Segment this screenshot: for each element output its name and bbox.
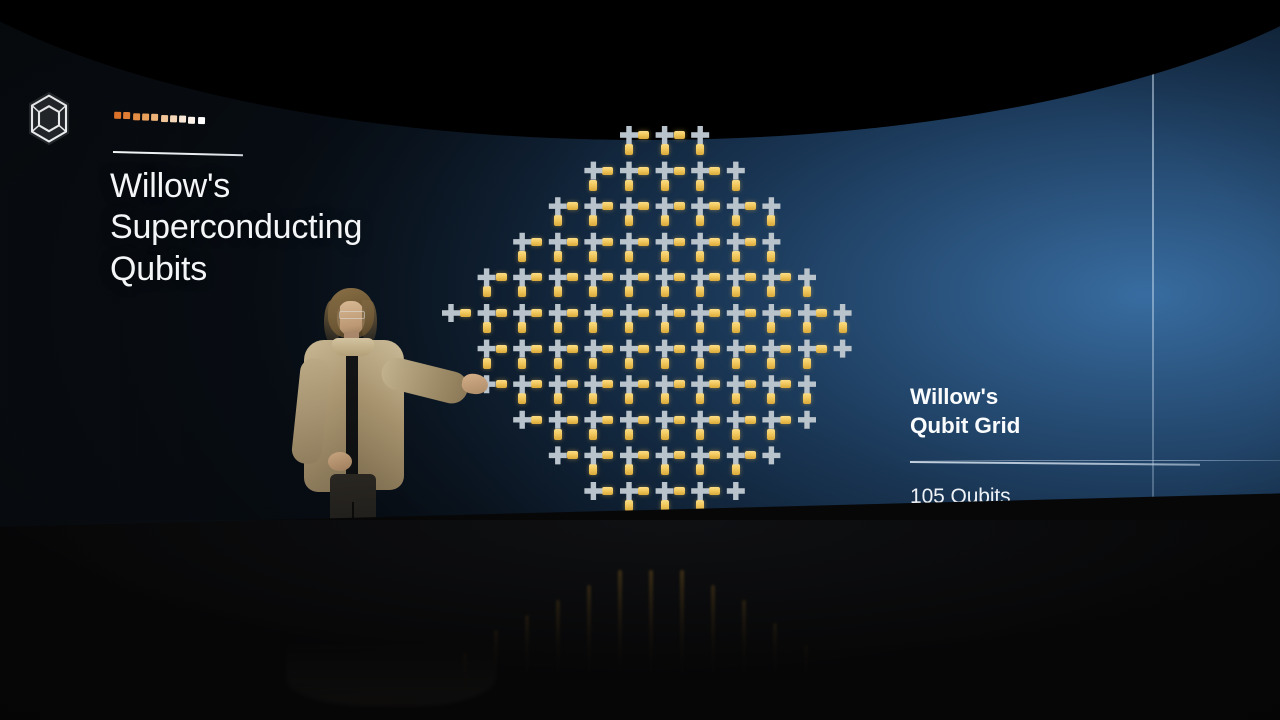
qubit-node [584, 340, 602, 358]
qubit-coupler [696, 215, 704, 226]
qubit-coupler [780, 309, 791, 317]
headline-line-1: Willow's [110, 166, 530, 207]
qubit-coupler [589, 464, 597, 475]
qubit-coupler [554, 215, 562, 226]
qubit-coupler [767, 286, 775, 297]
qubit-coupler [696, 286, 704, 297]
qubit-coupler [531, 309, 542, 317]
qubit-node [549, 446, 567, 464]
qubit-coupler [709, 380, 720, 388]
qubit-coupler [696, 251, 704, 262]
qubit-node [549, 375, 567, 393]
qubit-node [549, 233, 567, 251]
qubit-coupler [625, 358, 633, 369]
qubit-node [691, 126, 709, 144]
qubit-node [584, 268, 602, 286]
reflection-streak [587, 585, 591, 698]
qubit-coupler [567, 238, 578, 246]
qubit-node [513, 340, 531, 358]
qubit-coupler [732, 215, 740, 226]
qubit-coupler [803, 393, 811, 404]
qubit-coupler [589, 358, 597, 369]
qubit-node [691, 375, 709, 393]
qubit-coupler [661, 358, 669, 369]
progress-dot [151, 114, 158, 121]
progress-dot [170, 115, 177, 122]
qubit-node [762, 197, 780, 215]
qubit-node [727, 482, 745, 500]
qubit-node [691, 482, 709, 500]
qubit-coupler [638, 345, 649, 353]
qubit-coupler [638, 131, 649, 139]
qubit-coupler [709, 238, 720, 246]
qubit-coupler [661, 144, 669, 155]
qubit-coupler [567, 380, 578, 388]
qubit-coupler [674, 309, 685, 317]
qubit-node [620, 162, 638, 180]
qubit-coupler [602, 451, 613, 459]
qubit-coupler [638, 167, 649, 175]
qubit-node [549, 340, 567, 358]
qubit-node [584, 233, 602, 251]
qubit-coupler [803, 358, 811, 369]
caption-title-line-1: Willow's [910, 383, 1210, 412]
qubit-coupler [661, 429, 669, 440]
qubit-coupler [732, 251, 740, 262]
qubit-coupler [661, 251, 669, 262]
qubit-node [798, 375, 816, 393]
presenter-collar [332, 338, 374, 356]
qubit-node [762, 304, 780, 322]
qubit-coupler [780, 416, 791, 424]
qubit-coupler [732, 464, 740, 475]
qubit-node [691, 233, 709, 251]
qubit-coupler [567, 202, 578, 210]
qubit-coupler [589, 215, 597, 226]
qubit-coupler [638, 238, 649, 246]
qubit-coupler [674, 416, 685, 424]
qubit-coupler [674, 273, 685, 281]
progress-dot [179, 116, 186, 123]
qubit-coupler [625, 429, 633, 440]
qubit-coupler [661, 180, 669, 191]
qubit-node [584, 375, 602, 393]
qubit-coupler [567, 416, 578, 424]
qubit-node [656, 233, 674, 251]
qubit-coupler [745, 416, 756, 424]
qubit-coupler [518, 393, 526, 404]
qubit-coupler [696, 180, 704, 191]
qubit-coupler [518, 322, 526, 333]
qubit-coupler [625, 286, 633, 297]
qubit-coupler [839, 322, 847, 333]
qubit-coupler [625, 180, 633, 191]
qubit-coupler [589, 180, 597, 191]
qubit-coupler [531, 416, 542, 424]
qubit-coupler [732, 286, 740, 297]
qubit-coupler [602, 487, 613, 495]
qubit-node [727, 233, 745, 251]
qubit-coupler [661, 464, 669, 475]
qubit-node [762, 411, 780, 429]
qubit-coupler [602, 345, 613, 353]
qubit-coupler [816, 309, 827, 317]
qubit-coupler [745, 451, 756, 459]
qubit-coupler [732, 393, 740, 404]
qubit-coupler [674, 131, 685, 139]
qubit-node [691, 304, 709, 322]
progress-dot [188, 117, 195, 124]
qubit-coupler [602, 202, 613, 210]
qubit-coupler [602, 309, 613, 317]
qubit-node [549, 197, 567, 215]
qubit-coupler [602, 273, 613, 281]
qubit-node [656, 446, 674, 464]
headline-line-2: Superconducting [110, 207, 530, 248]
caption-title-line-2: Qubit Grid [910, 412, 1210, 441]
qubit-coupler [638, 202, 649, 210]
qubit-node [656, 197, 674, 215]
qubit-node [691, 446, 709, 464]
qubit-coupler [767, 322, 775, 333]
qubit-node [762, 268, 780, 286]
progress-dot [123, 112, 130, 119]
qubit-coupler [567, 273, 578, 281]
qubit-node [691, 162, 709, 180]
qubit-node [656, 304, 674, 322]
presenter-glasses [339, 311, 365, 319]
qubit-coupler [602, 380, 613, 388]
qubit-coupler [767, 393, 775, 404]
progress-dot [114, 112, 121, 119]
qubit-node [584, 411, 602, 429]
qubit-node [620, 304, 638, 322]
qubit-node [691, 268, 709, 286]
page-title: Willow's Superconducting Qubits [110, 166, 530, 290]
progress-dot [198, 117, 205, 124]
qubit-coupler [767, 358, 775, 369]
qubit-coupler [531, 238, 542, 246]
qubit-coupler [589, 286, 597, 297]
qubit-coupler [554, 429, 562, 440]
qubit-node [656, 482, 674, 500]
qubit-coupler [745, 309, 756, 317]
stage-scene: Willow's Superconducting Qubits Willow's… [0, 0, 1280, 720]
qubit-coupler [625, 322, 633, 333]
qubit-coupler [661, 393, 669, 404]
qubit-coupler [696, 464, 704, 475]
qubit-node [620, 340, 638, 358]
qubit-coupler [745, 202, 756, 210]
qubit-coupler [709, 345, 720, 353]
qubit-node [584, 162, 602, 180]
qubit-coupler [674, 380, 685, 388]
qubit-coupler [531, 380, 542, 388]
qubit-coupler [816, 345, 827, 353]
qubit-coupler [638, 309, 649, 317]
qubit-coupler [709, 273, 720, 281]
qubit-coupler [732, 322, 740, 333]
qubit-coupler [661, 286, 669, 297]
caption-divider [910, 461, 1200, 465]
grid-floor-reflection [455, 548, 855, 698]
qubit-coupler [554, 358, 562, 369]
qubit-node [584, 446, 602, 464]
qubit-node [620, 446, 638, 464]
qubit-coupler [567, 345, 578, 353]
qubit-coupler [567, 451, 578, 459]
qubit-coupler [767, 215, 775, 226]
qubit-coupler [767, 429, 775, 440]
qubit-node [727, 446, 745, 464]
qubit-coupler [674, 202, 685, 210]
qubit-node [834, 340, 852, 358]
qubit-coupler [709, 416, 720, 424]
qubit-coupler [625, 251, 633, 262]
qubit-coupler [674, 167, 685, 175]
caption-title: Willow's Qubit Grid [910, 383, 1210, 440]
qubit-coupler [709, 451, 720, 459]
progress-dots [114, 112, 210, 131]
qubit-node [656, 411, 674, 429]
qubit-grid-caption: Willow's Qubit Grid 105 Qubits [910, 383, 1210, 509]
qubit-coupler [554, 322, 562, 333]
qubit-coupler [732, 429, 740, 440]
qubit-node [762, 446, 780, 464]
qubit-coupler [589, 393, 597, 404]
qubit-coupler [780, 380, 791, 388]
qubit-node [620, 126, 638, 144]
qubit-coupler [780, 345, 791, 353]
qubit-node [798, 411, 816, 429]
qubit-node [727, 304, 745, 322]
reflection-streak [649, 570, 653, 698]
qubit-node [513, 411, 531, 429]
progress-dot [133, 113, 140, 120]
qubit-node [798, 340, 816, 358]
qubit-coupler [602, 416, 613, 424]
reflection-streak [804, 645, 808, 698]
qubit-node [727, 375, 745, 393]
qubit-node [727, 197, 745, 215]
presenter-floor-reflection [286, 636, 496, 706]
qubit-coupler [625, 144, 633, 155]
qubit-coupler [767, 251, 775, 262]
qubit-coupler [780, 273, 791, 281]
qubit-node [691, 411, 709, 429]
qubit-node [620, 482, 638, 500]
qubit-coupler [625, 464, 633, 475]
qubit-coupler [696, 429, 704, 440]
qubit-coupler [709, 309, 720, 317]
qubit-coupler [661, 322, 669, 333]
qubit-node [584, 304, 602, 322]
qubit-coupler [589, 251, 597, 262]
qubit-node [620, 411, 638, 429]
qubit-coupler [554, 286, 562, 297]
qubit-node [584, 197, 602, 215]
qubit-node [798, 268, 816, 286]
qubit-coupler [531, 273, 542, 281]
reflection-streak [773, 623, 777, 699]
qubit-coupler [531, 345, 542, 353]
qubit-coupler [638, 451, 649, 459]
qubit-coupler [709, 202, 720, 210]
qubit-node [656, 126, 674, 144]
qubit-node [513, 375, 531, 393]
qubit-node [798, 304, 816, 322]
isometric-cube-logo [20, 88, 78, 152]
qubit-coupler [625, 500, 633, 511]
qubit-coupler [803, 286, 811, 297]
qubit-coupler [638, 487, 649, 495]
qubit-coupler [674, 451, 685, 459]
qubit-node [584, 482, 602, 500]
qubit-node [762, 340, 780, 358]
qubit-node [727, 411, 745, 429]
reflection-streak [711, 585, 715, 698]
qubit-coupler [625, 393, 633, 404]
qubit-coupler [696, 358, 704, 369]
qubit-coupler [674, 487, 685, 495]
qubit-node [656, 375, 674, 393]
qubit-node [620, 268, 638, 286]
qubit-node [656, 340, 674, 358]
reflection-streak [525, 615, 529, 698]
qubit-node [691, 197, 709, 215]
qubit-coupler [696, 322, 704, 333]
qubit-coupler [496, 380, 507, 388]
qubit-node [691, 340, 709, 358]
qubit-coupler [674, 238, 685, 246]
reflection-streak [680, 570, 684, 698]
qubit-coupler [554, 251, 562, 262]
qubit-coupler [602, 167, 613, 175]
qubit-coupler [638, 273, 649, 281]
qubit-coupler [745, 345, 756, 353]
qubit-coupler [732, 358, 740, 369]
qubit-node [727, 162, 745, 180]
qubit-node [762, 375, 780, 393]
qubit-coupler [732, 180, 740, 191]
qubit-coupler [696, 393, 704, 404]
qubit-coupler [803, 322, 811, 333]
qubit-node [620, 233, 638, 251]
qubit-coupler [745, 380, 756, 388]
qubit-node [620, 375, 638, 393]
headline-line-3: Qubits [110, 249, 530, 290]
qubit-coupler [745, 273, 756, 281]
qubit-coupler [554, 393, 562, 404]
progress-dot [142, 113, 149, 120]
qubit-coupler [745, 238, 756, 246]
qubit-coupler [589, 322, 597, 333]
qubit-node [727, 340, 745, 358]
reflection-streak [742, 600, 746, 698]
reflection-streak [556, 600, 560, 698]
qubit-node [549, 304, 567, 322]
qubit-coupler [567, 309, 578, 317]
qubit-node [620, 197, 638, 215]
reflection-streak [618, 570, 622, 698]
qubit-node [549, 268, 567, 286]
qubit-node [727, 268, 745, 286]
qubit-coupler [696, 144, 704, 155]
qubit-coupler [589, 429, 597, 440]
qubit-coupler [661, 215, 669, 226]
qubit-coupler [496, 345, 507, 353]
qubit-coupler [709, 167, 720, 175]
qubit-coupler [638, 380, 649, 388]
progress-dot [160, 115, 167, 122]
qubit-coupler [638, 416, 649, 424]
qubit-node [762, 233, 780, 251]
qubit-coupler [602, 238, 613, 246]
qubit-coupler [496, 309, 507, 317]
qubit-node [656, 162, 674, 180]
qubit-node [513, 304, 531, 322]
qubit-coupler [518, 358, 526, 369]
qubit-node [549, 411, 567, 429]
presenter-left-hand [328, 452, 352, 471]
qubit-node [834, 304, 852, 322]
qubit-coupler [709, 487, 720, 495]
qubit-coupler [625, 215, 633, 226]
qubit-node [656, 268, 674, 286]
qubit-coupler [674, 345, 685, 353]
